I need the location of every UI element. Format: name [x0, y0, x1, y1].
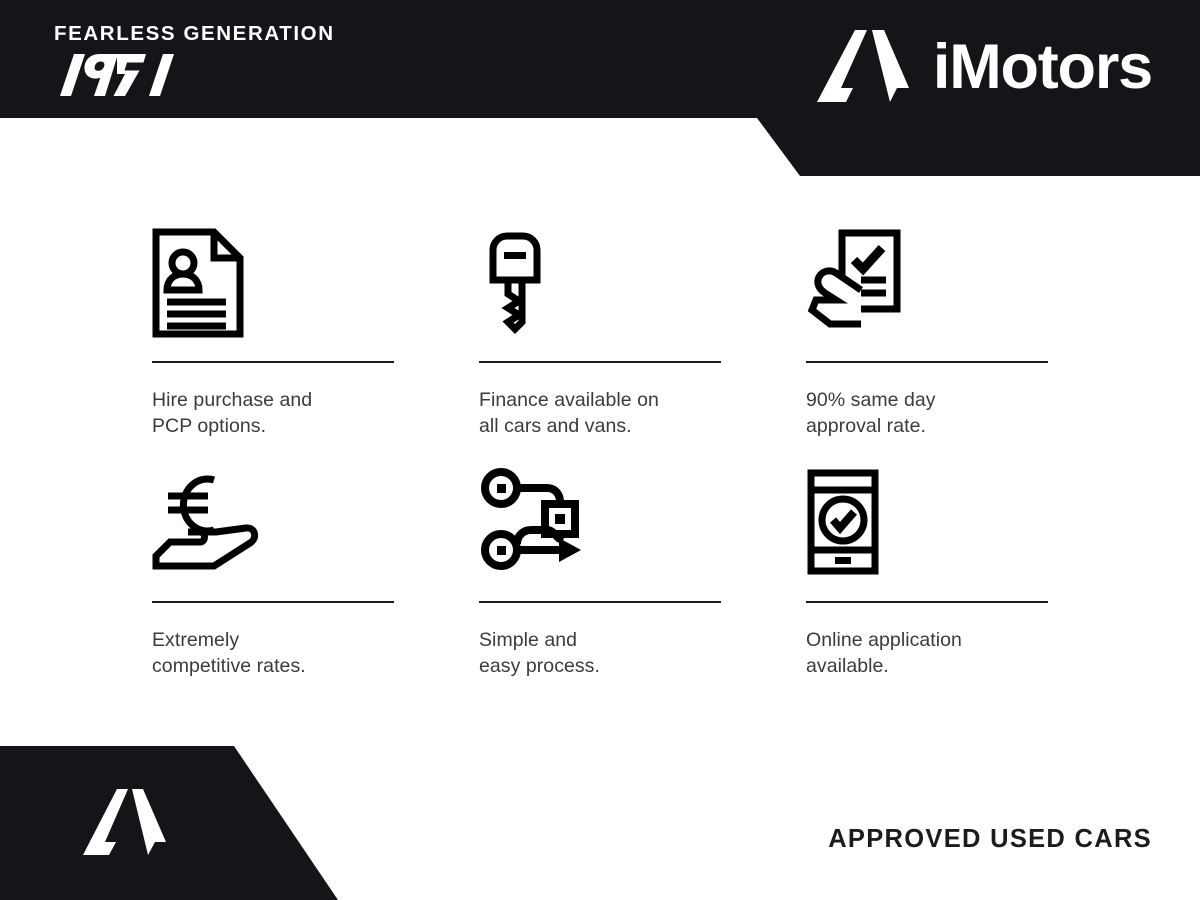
feature-card: Extremely competitive rates.: [152, 468, 394, 708]
feature-divider: [479, 601, 721, 603]
document-person-icon: [152, 228, 394, 353]
feature-label: Hire purchase and PCP options.: [152, 388, 394, 440]
feature-card: Hire purchase and PCP options.: [152, 228, 394, 468]
brand-lockup[interactable]: iMotors: [815, 28, 1152, 106]
hand-holding-approved-document-icon: [806, 228, 1048, 353]
footer-tagline: APPROVED USED CARS: [828, 827, 1152, 853]
brand-name: iMotors: [933, 36, 1152, 99]
footer-background-shape: [0, 746, 340, 900]
campaign-headline: FEARLESS GENERATION: [54, 24, 335, 45]
feature-label: Finance available on all cars and vans.: [479, 388, 721, 440]
feature-divider: [152, 601, 394, 603]
footer-imotors-chevron-logo-icon: [82, 787, 168, 859]
campaign-lockup: FEARLESS GENERATION: [54, 24, 335, 98]
car-key-icon: [479, 228, 721, 353]
feature-card: 90% same day approval rate.: [806, 228, 1048, 468]
feature-divider: [152, 361, 394, 363]
feature-label: Simple and easy process.: [479, 628, 721, 680]
feature-divider: [479, 361, 721, 363]
feature-label: 90% same day approval rate.: [806, 388, 1048, 440]
smartphone-check-icon: [806, 468, 1048, 593]
imotors-chevron-logo-icon: [815, 28, 911, 106]
feature-label: Extremely competitive rates.: [152, 628, 394, 680]
feature-divider: [806, 361, 1048, 363]
feature-card: Simple and easy process.: [479, 468, 721, 708]
page-header: FEARLESS GENERATION: [0, 0, 1200, 180]
euro-in-hand-icon: [152, 468, 394, 593]
feature-card: Online application available.: [806, 468, 1048, 708]
feature-card: Finance available on all cars and vans.: [479, 228, 721, 468]
campaign-year-1971: [54, 52, 174, 98]
feature-grid: Hire purchase and PCP options. Finance a…: [152, 228, 1048, 708]
feature-divider: [806, 601, 1048, 603]
process-flow-icon: [479, 468, 721, 593]
feature-label: Online application available.: [806, 628, 1048, 680]
